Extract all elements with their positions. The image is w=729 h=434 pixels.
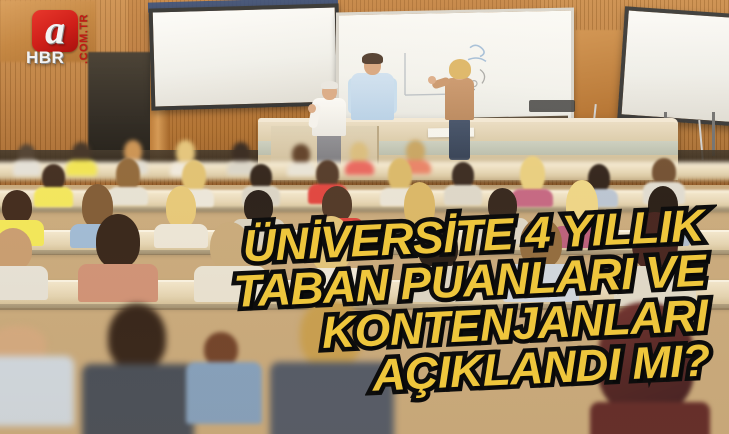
av-equipment-panel xyxy=(529,100,575,112)
left-projector-screen xyxy=(149,3,342,110)
headline-overlay: ÜNİVERSİTE 4 YILLIK TABAN PUANLARI VE KO… xyxy=(0,202,729,415)
presenter2-hair xyxy=(362,53,383,64)
ahaber-logo[interactable]: a HBR .COM.TR xyxy=(20,8,112,66)
news-photo-card: a HBR .COM.TR ÜNİVERSİTE 4 YILLIK TABAN … xyxy=(0,0,729,434)
presenter3-hand xyxy=(428,76,436,84)
logo-brand-text: HBR xyxy=(26,48,64,68)
presenter2-torso xyxy=(351,73,394,120)
logo-domain-text: .COM.TR xyxy=(78,14,90,64)
presenter1-hair xyxy=(321,81,338,89)
logo-letter-a: a xyxy=(32,8,78,52)
presenter1-hand xyxy=(308,104,316,113)
presenter3-hair xyxy=(449,59,471,79)
presenter3-torso xyxy=(445,78,474,120)
